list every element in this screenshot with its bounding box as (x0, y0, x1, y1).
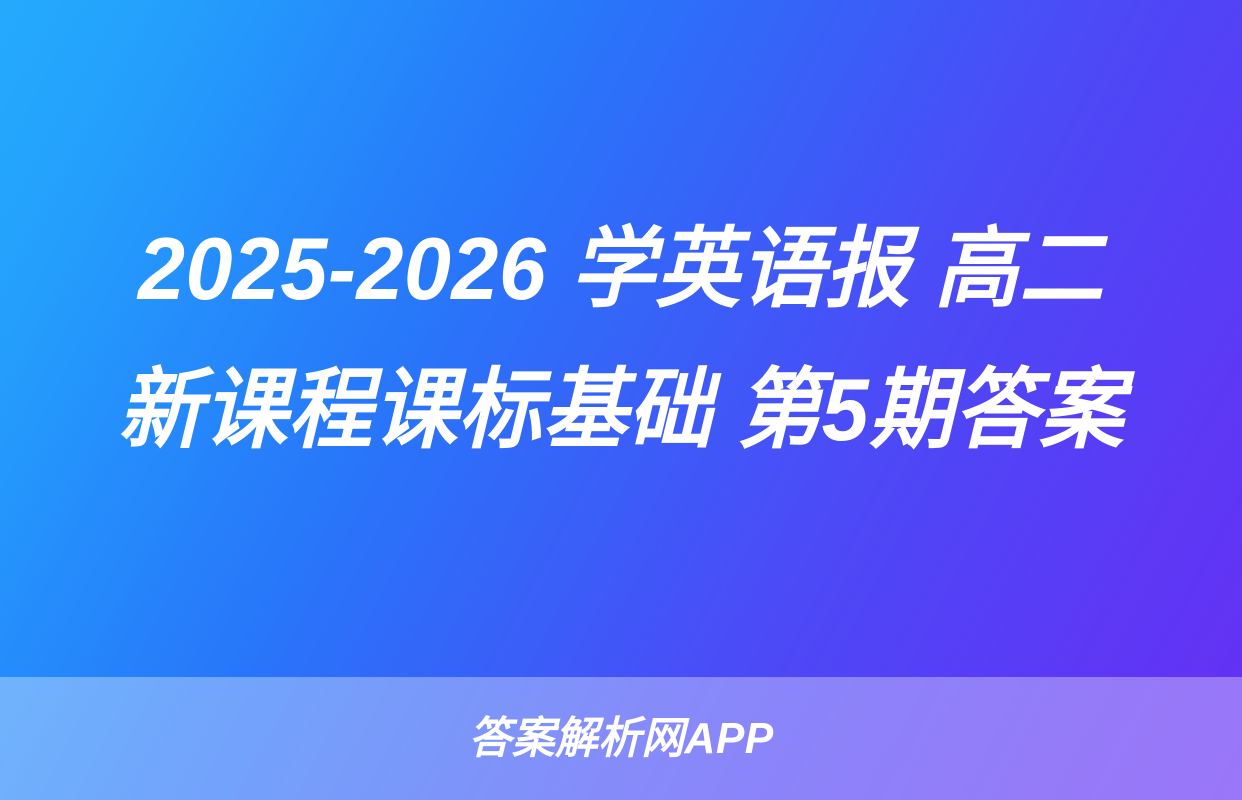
page-title: 2025-2026 学英语报 高二 新课程课标基础 第5期答案 (96, 198, 1146, 480)
app-brand-label: 答案解析网APP (468, 713, 773, 765)
title-area: 2025-2026 学英语报 高二 新课程课标基础 第5期答案 (0, 0, 1242, 677)
cover-card: 2025-2026 学英语报 高二 新课程课标基础 第5期答案 答案解析网APP (0, 0, 1242, 800)
app-brand-band: 答案解析网APP (0, 677, 1242, 800)
